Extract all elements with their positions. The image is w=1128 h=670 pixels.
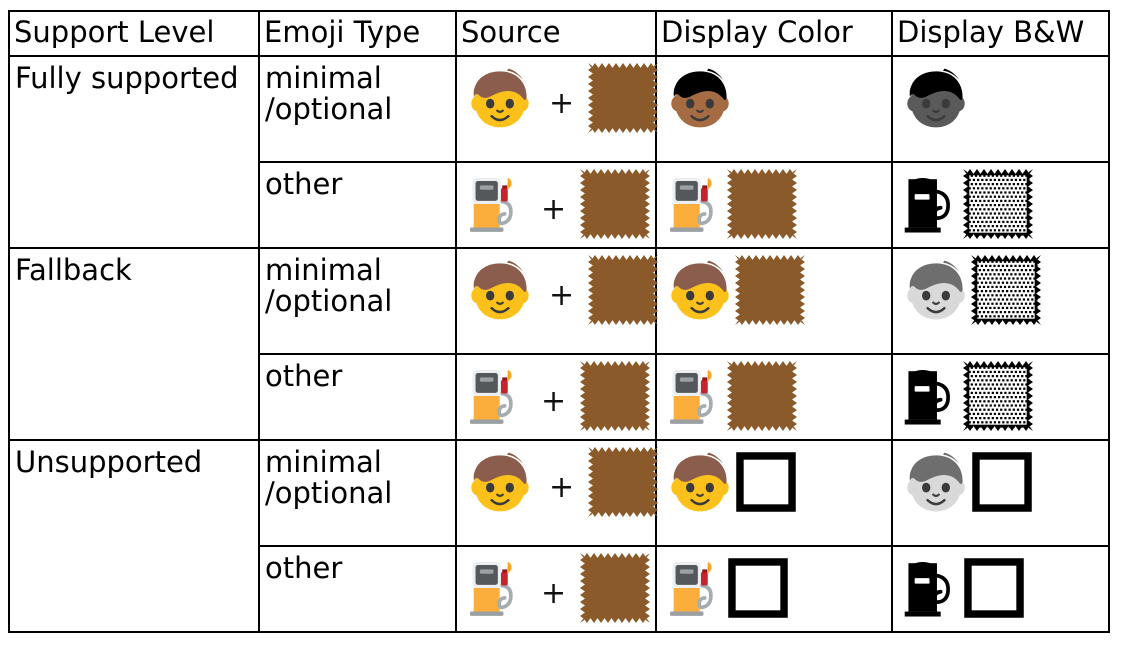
plus-symbol: + <box>541 579 566 609</box>
fuel-pump-emoji-bw-icon <box>901 361 963 431</box>
boy-emoji-bw-light-icon <box>901 447 971 517</box>
table-header: Support Level Emoji Type Source Display … <box>9 11 1109 56</box>
skin-tone-swatch-brown-icon <box>580 169 650 239</box>
display-bw-glyphs <box>901 169 1104 239</box>
header-label-support-level: Support Level <box>10 12 258 55</box>
header-label-source: Source <box>457 12 655 55</box>
column-header-display-color: Display Color <box>656 11 892 56</box>
fuel-pump-emoji-bw-icon <box>901 169 963 239</box>
emoji-type-label: minimal/optional <box>260 249 455 322</box>
skin-tone-swatch-brown-icon <box>580 361 650 431</box>
skin-tone-swatch-bw-icon <box>971 255 1041 325</box>
plus-symbol: + <box>549 89 574 119</box>
cell-emoji-type: minimal/optional <box>259 56 456 162</box>
plus-symbol: + <box>549 281 574 311</box>
emoji-type-label: other <box>260 547 455 588</box>
column-header-emoji-type: Emoji Type <box>259 11 456 56</box>
source-glyphs: + <box>465 63 651 133</box>
source-glyphs: + <box>465 447 651 517</box>
column-header-source: Source <box>456 11 656 56</box>
boy-emoji-brown-skin-icon <box>665 63 735 133</box>
cell-display-color <box>656 162 892 248</box>
cell-support-level: Fallback <box>9 248 259 440</box>
cell-source: + <box>456 248 656 354</box>
skin-tone-swatch-brown-icon <box>727 169 797 239</box>
display-bw-glyphs <box>901 553 1104 623</box>
cell-display-bw <box>892 440 1109 546</box>
cell-source: + <box>456 162 656 248</box>
cell-source: + <box>456 546 656 632</box>
boy-emoji-bw-light-icon <box>901 255 971 325</box>
cell-display-color <box>656 546 892 632</box>
cell-display-color <box>656 56 892 162</box>
support-level-label: Fallback <box>10 249 258 290</box>
fuel-pump-emoji-color-icon <box>465 553 527 623</box>
skin-tone-swatch-brown-icon <box>727 361 797 431</box>
fuel-pump-emoji-bw-icon <box>901 553 963 623</box>
tofu-box-icon <box>971 447 1033 517</box>
skin-tone-swatch-bw-icon <box>963 169 1033 239</box>
cell-display-bw <box>892 546 1109 632</box>
support-level-label: Fully supported <box>10 57 258 98</box>
display-bw-glyphs <box>901 447 1104 517</box>
plus-symbol: + <box>541 195 566 225</box>
emoji-type-label: other <box>260 163 455 204</box>
fuel-pump-emoji-color-icon <box>665 169 727 239</box>
display-color-glyphs <box>665 169 887 239</box>
boy-emoji-yellow-icon <box>665 255 735 325</box>
table-row: Fully supportedminimal/optional+ <box>9 56 1109 162</box>
table-row: Unsupportedminimal/optional+ <box>9 440 1109 546</box>
cell-support-level: Unsupported <box>9 440 259 632</box>
cell-source: + <box>456 440 656 546</box>
display-color-glyphs <box>665 63 887 133</box>
tofu-box-icon <box>963 553 1025 623</box>
cell-emoji-type: other <box>259 546 456 632</box>
cell-display-bw <box>892 162 1109 248</box>
cell-emoji-type: other <box>259 162 456 248</box>
display-color-glyphs <box>665 361 887 431</box>
plus-symbol: + <box>549 473 574 503</box>
source-glyphs: + <box>465 553 651 623</box>
support-level-label: Unsupported <box>10 441 258 482</box>
header-label-display-color: Display Color <box>657 12 891 55</box>
cell-display-color <box>656 440 892 546</box>
cell-display-color <box>656 248 892 354</box>
skin-tone-swatch-brown-icon <box>580 553 650 623</box>
boy-emoji-yellow-icon <box>665 447 735 517</box>
boy-emoji-yellow-icon <box>465 63 535 133</box>
header-label-display-bw: Display B&W <box>893 12 1108 55</box>
cell-source: + <box>456 354 656 440</box>
cell-display-bw <box>892 248 1109 354</box>
header-row: Support Level Emoji Type Source Display … <box>9 11 1109 56</box>
skin-tone-swatch-brown-icon <box>735 255 805 325</box>
boy-emoji-yellow-icon <box>465 447 535 517</box>
source-glyphs: + <box>465 255 651 325</box>
display-bw-glyphs <box>901 361 1104 431</box>
boy-emoji-bw-dark-icon <box>901 63 971 133</box>
cell-display-bw <box>892 56 1109 162</box>
fuel-pump-emoji-color-icon <box>665 361 727 431</box>
column-header-support-level: Support Level <box>9 11 259 56</box>
fuel-pump-emoji-color-icon <box>465 169 527 239</box>
display-bw-glyphs <box>901 63 1104 133</box>
tofu-box-icon <box>727 553 789 623</box>
source-glyphs: + <box>465 169 651 239</box>
fuel-pump-emoji-color-icon <box>665 553 727 623</box>
cell-emoji-type: minimal/optional <box>259 440 456 546</box>
skin-tone-swatch-bw-icon <box>963 361 1033 431</box>
source-glyphs: + <box>465 361 651 431</box>
emoji-type-label: minimal/optional <box>260 441 455 514</box>
cell-emoji-type: other <box>259 354 456 440</box>
table-body: Fully supportedminimal/optional+other+Fa… <box>9 56 1109 632</box>
plus-symbol: + <box>541 387 566 417</box>
emoji-support-table: Support Level Emoji Type Source Display … <box>8 10 1110 633</box>
cell-display-color <box>656 354 892 440</box>
skin-tone-swatch-brown-icon <box>588 447 658 517</box>
cell-display-bw <box>892 354 1109 440</box>
skin-tone-swatch-brown-icon <box>588 63 658 133</box>
display-color-glyphs <box>665 553 887 623</box>
display-color-glyphs <box>665 255 887 325</box>
display-bw-glyphs <box>901 255 1104 325</box>
emoji-type-label: other <box>260 355 455 396</box>
skin-tone-swatch-brown-icon <box>588 255 658 325</box>
column-header-display-bw: Display B&W <box>892 11 1109 56</box>
table-row: Fallbackminimal/optional+ <box>9 248 1109 354</box>
cell-support-level: Fully supported <box>9 56 259 248</box>
cell-source: + <box>456 56 656 162</box>
tofu-box-icon <box>735 447 797 517</box>
cell-emoji-type: minimal/optional <box>259 248 456 354</box>
emoji-type-label: minimal/optional <box>260 57 455 130</box>
header-label-emoji-type: Emoji Type <box>260 12 455 55</box>
table-screenshot: Support Level Emoji Type Source Display … <box>0 0 1128 670</box>
boy-emoji-yellow-icon <box>465 255 535 325</box>
fuel-pump-emoji-color-icon <box>465 361 527 431</box>
display-color-glyphs <box>665 447 887 517</box>
